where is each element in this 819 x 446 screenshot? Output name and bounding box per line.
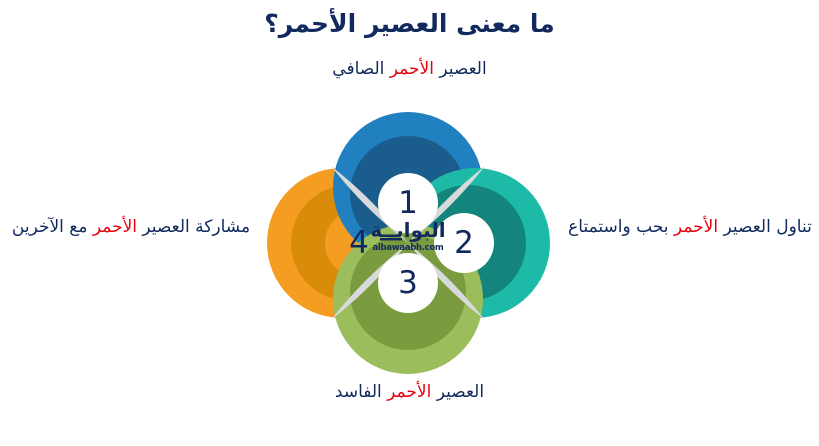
- badge-4[interactable]: 4: [349, 225, 369, 261]
- petal-label-left: مشاركة العصير الأحمر مع الآخرين: [6, 216, 256, 239]
- label-bottom-part-2: الأحمر: [382, 382, 432, 402]
- label-right-part-1: تناول العصير: [718, 217, 812, 237]
- label-right-part-3: بحب واستمتاع: [568, 217, 668, 237]
- label-left-part-1: مشاركة العصير: [137, 217, 250, 237]
- badge-1-number: 1: [398, 185, 418, 221]
- petal-label-right: تناول العصير الأحمر بحب واستمتاع: [565, 216, 815, 239]
- label-left-part-2: الأحمر: [87, 217, 137, 237]
- label-bottom-part-3: الفاسد: [335, 382, 382, 402]
- petal-label-top: العصير الأحمر الصافي: [0, 58, 819, 81]
- label-bottom-part-1: العصير: [431, 382, 484, 402]
- four-petal-diagram: 1 2 3 4 البوابــة albawaabh.com: [249, 100, 569, 385]
- label-top-part-1: العصير: [434, 59, 487, 79]
- label-right-part-2: الأحمر: [669, 217, 719, 237]
- badge-2-number: 2: [454, 225, 474, 261]
- brand-logo-domain: albawaabh.com: [373, 243, 444, 253]
- badge-4-number: 4: [349, 225, 369, 261]
- brand-logo-rule: [380, 238, 402, 240]
- badge-3-number: 3: [398, 265, 418, 301]
- label-top-part-2: الأحمر: [384, 59, 434, 79]
- badge-3[interactable]: 3: [378, 253, 438, 313]
- label-left-part-3: مع الآخرين: [12, 217, 88, 237]
- brand-logo: البوابــة albawaabh.com: [370, 218, 445, 253]
- page-title: ما معنى العصير الأحمر؟: [0, 8, 819, 40]
- label-top-part-3: الصافي: [332, 59, 384, 79]
